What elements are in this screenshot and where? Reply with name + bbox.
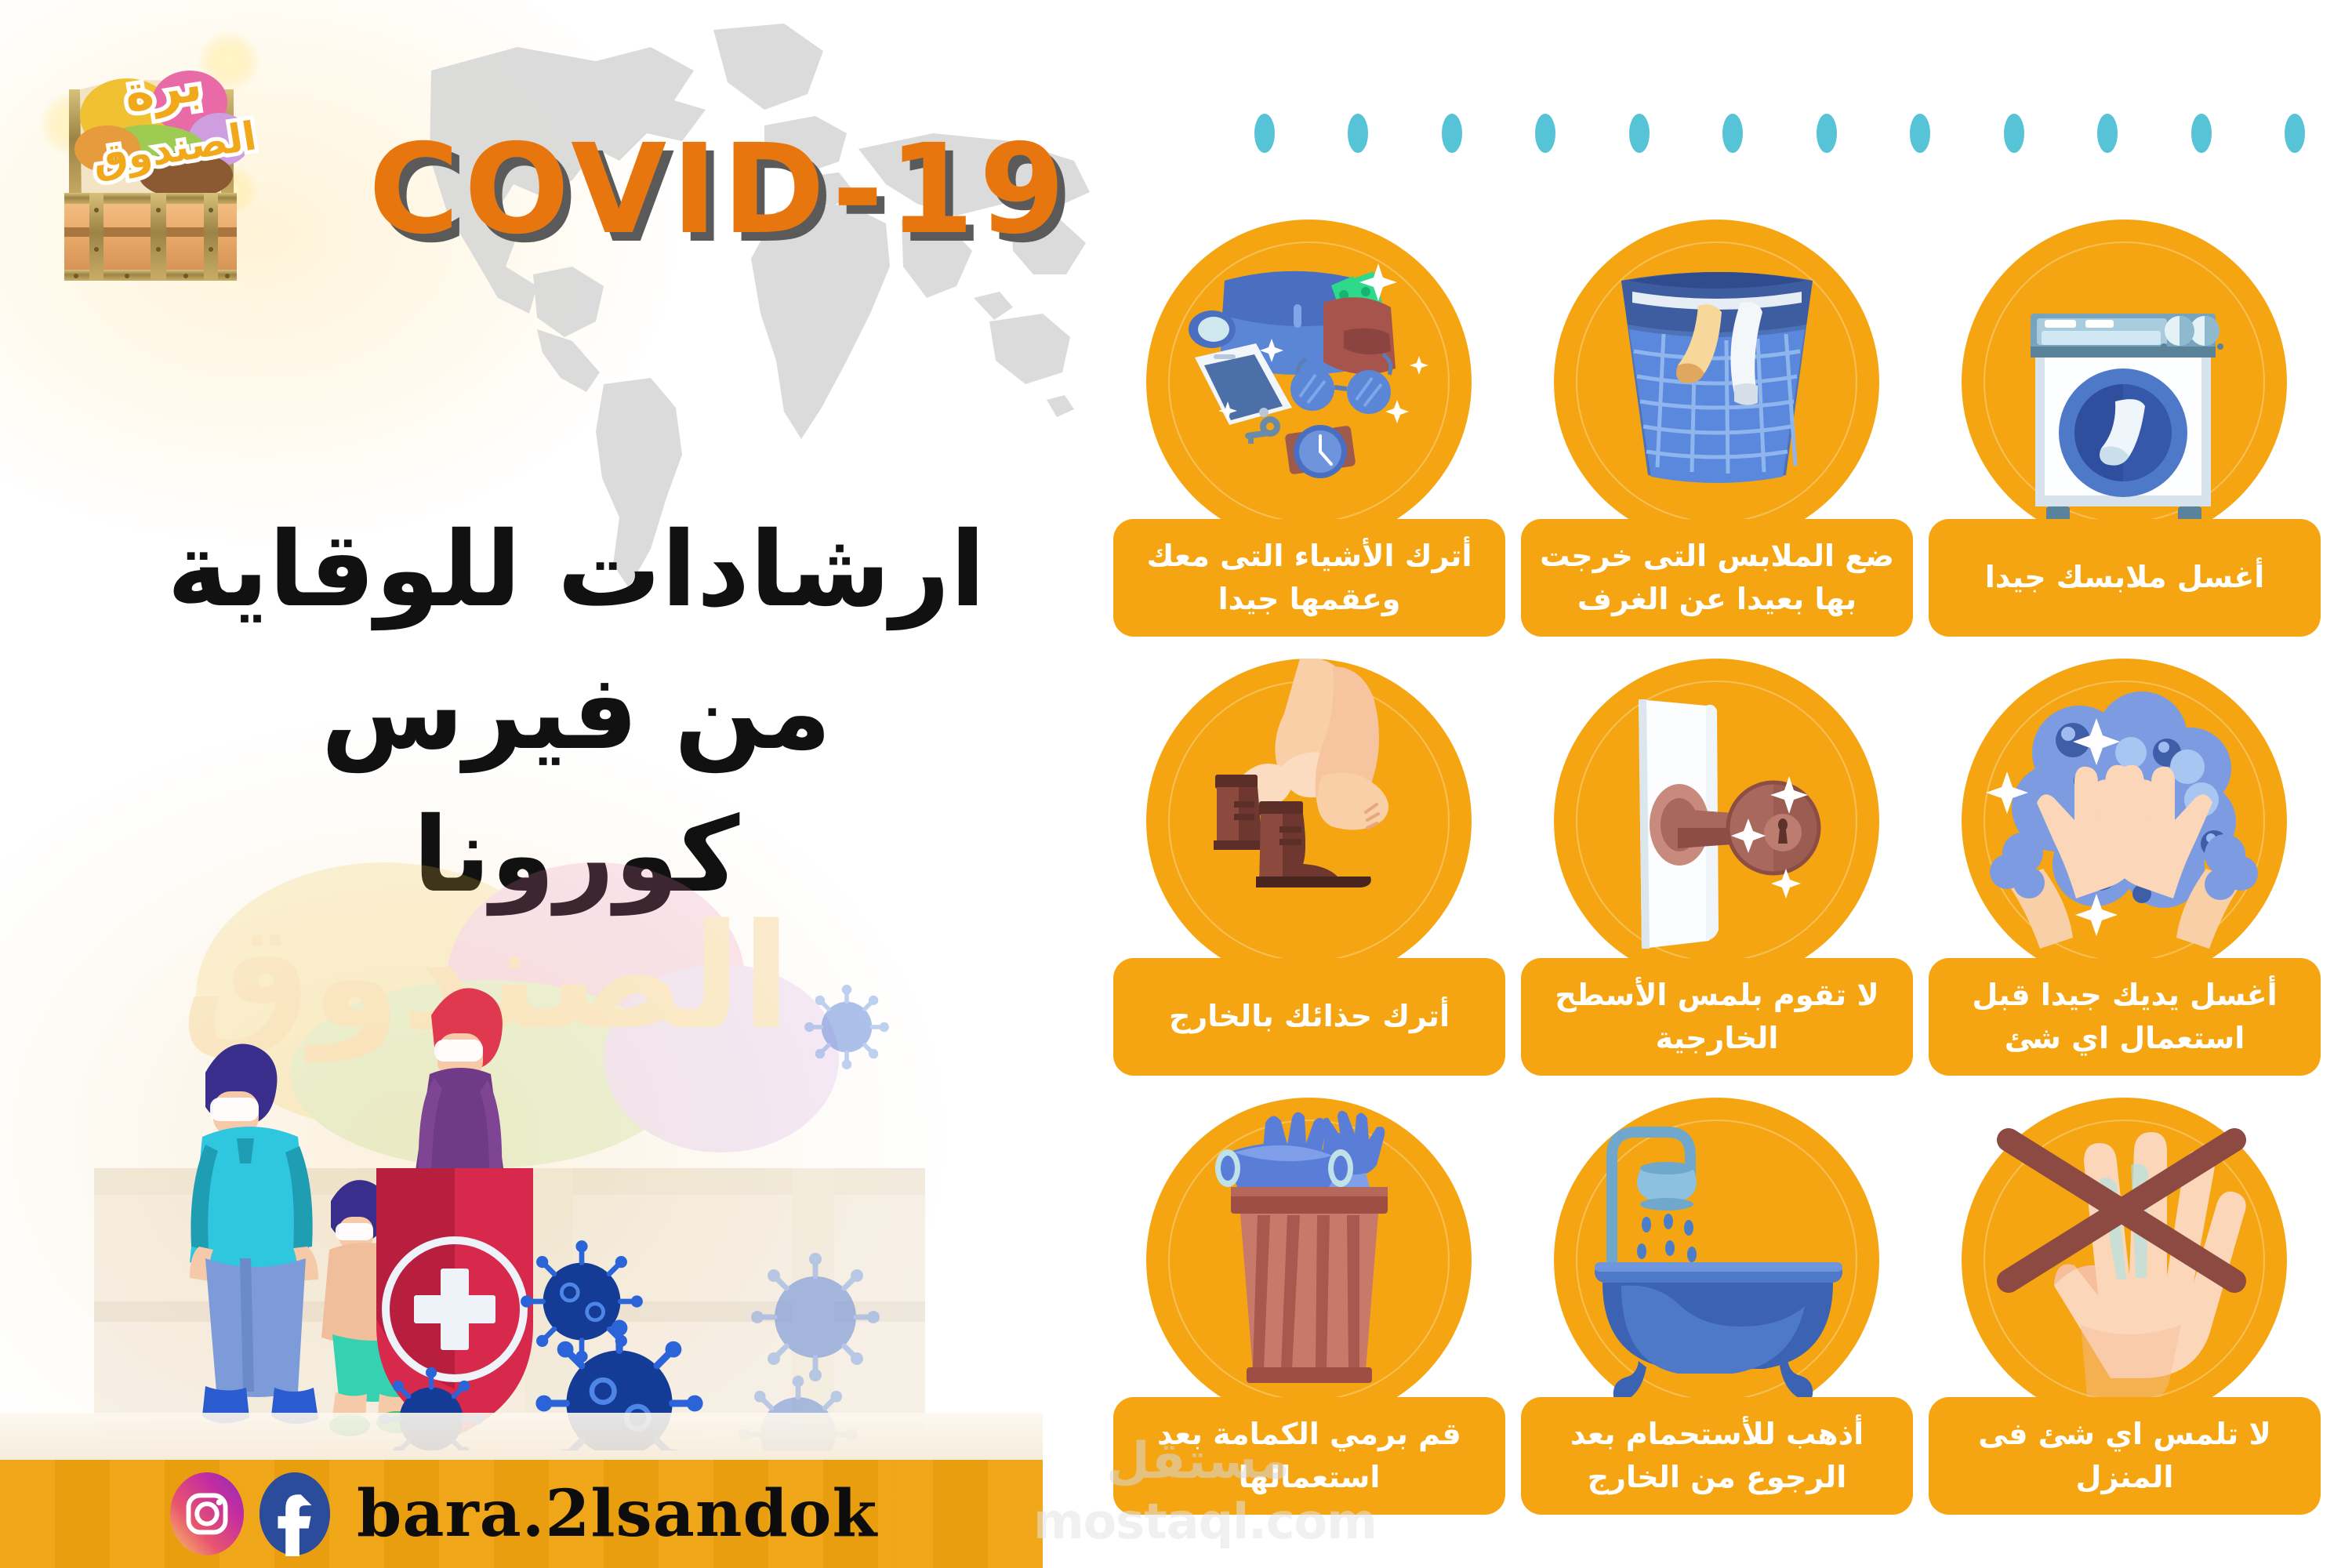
teal-dot	[1722, 114, 1743, 153]
tip-card-dont-touch-home[interactable]: لا تلمس اي شئ فى المنزل	[1929, 1098, 2321, 1521]
headline-line-2: من فيرس كورونا	[149, 641, 1004, 927]
tip-caption: قم برمي الكمامة بعد استعمالها	[1113, 1397, 1505, 1515]
family-illustration	[118, 902, 964, 1450]
social-footer: bara.2lsandok	[0, 1460, 1043, 1568]
laundry-basket-icon	[1554, 220, 1879, 545]
tip-card-discard-mask[interactable]: قم برمي الكمامة بعد استعمالها	[1113, 1098, 1505, 1521]
teal-dot	[1442, 114, 1462, 153]
logo-text-line1: برة	[120, 55, 205, 124]
tip-caption: أذهب للأستحمام بعد الرجوع من الخارج	[1521, 1397, 1913, 1515]
teal-dot	[1817, 114, 1837, 153]
tip-card-washing-machine[interactable]: أغسل ملابسك جيدا	[1929, 220, 2321, 643]
headline-line-1: ارشادات للوقاية	[167, 510, 985, 630]
tip-caption: لا تلمس اي شئ فى المنزل	[1929, 1397, 2321, 1515]
tip-caption: أترك الأشياء التى معك وعقمها جيدا	[1113, 519, 1505, 637]
handwashing-icon	[1962, 659, 2287, 984]
washing-machine-icon	[1962, 220, 2287, 545]
teal-dot	[2097, 114, 2118, 153]
no-touch-hand-icon	[1962, 1098, 2287, 1423]
tip-caption: أغسل ملابسك جيدا	[1929, 519, 2321, 637]
instagram-icon[interactable]	[169, 1472, 245, 1556]
wallet-with-money-icon	[1323, 271, 1396, 374]
key-icon	[1245, 416, 1280, 444]
doorknob-icon	[1554, 659, 1879, 984]
tip-card-leave-shoes-outside[interactable]: أترك حذائك بالخارج	[1113, 659, 1505, 1082]
tip-caption: لا تقوم بلمس الأسطح الخارجية	[1521, 958, 1913, 1076]
teal-dot	[1254, 114, 1275, 153]
headline: ارشادات للوقاية من فيرس كورونا	[149, 499, 1004, 927]
treasure-chest-logo: برة الصندوق	[33, 14, 268, 296]
social-handle: bara.2lsandok	[357, 1476, 877, 1552]
tips-grid: أترك الأشياء التى معك وعقمها جيدا	[1113, 220, 2336, 1505]
teal-dot	[2285, 114, 2305, 153]
tip-caption: أترك حذائك بالخارج	[1113, 958, 1505, 1076]
tip-caption: أغسل يديك جيدا قبل استعمال اي شئ	[1929, 958, 2321, 1076]
teal-dot	[1535, 114, 1555, 153]
footer-wood-strip	[0, 1413, 1043, 1460]
tip-caption: ضع الملابس التى خرجت بها بعيدا عن الغرف	[1521, 519, 1913, 637]
tip-card-laundry-basket[interactable]: ضع الملابس التى خرجت بها بعيدا عن الغرف	[1521, 220, 1913, 643]
trash-bin-mask-icon	[1146, 1098, 1472, 1423]
tip-card-wash-hands[interactable]: أغسل يديك جيدا قبل استعمال اي شئ	[1929, 659, 2321, 1082]
teal-dot	[1910, 114, 1930, 153]
decorative-dots-row	[1254, 110, 2305, 157]
tip-card-take-shower[interactable]: أذهب للأستحمام بعد الرجوع من الخارج	[1521, 1098, 1913, 1521]
poster-root: برة الصندوق COVID-19 ارشادات للوقاية من …	[0, 0, 2352, 1568]
boot-back	[1214, 775, 1264, 850]
facebook-icon[interactable]	[256, 1472, 333, 1556]
tip-card-personal-items[interactable]: أترك الأشياء التى معك وعقمها جيدا	[1113, 220, 1505, 643]
trash-bin-icon	[1231, 1187, 1388, 1383]
personal-items-icon	[1146, 220, 1472, 545]
wristwatch-icon	[1285, 425, 1356, 478]
page-title: COVID-19	[368, 118, 1070, 262]
bare-feet-boots-icon	[1146, 659, 1472, 984]
teal-dot	[1348, 114, 1368, 153]
bathtub-shower-icon	[1554, 1098, 1879, 1423]
teal-dot	[2004, 114, 2024, 153]
teal-dot	[2191, 114, 2212, 153]
tip-card-dont-touch-surfaces[interactable]: لا تقوم بلمس الأسطح الخارجية	[1521, 659, 1913, 1082]
figure-father	[190, 1044, 318, 1425]
teal-dot	[1629, 114, 1650, 153]
